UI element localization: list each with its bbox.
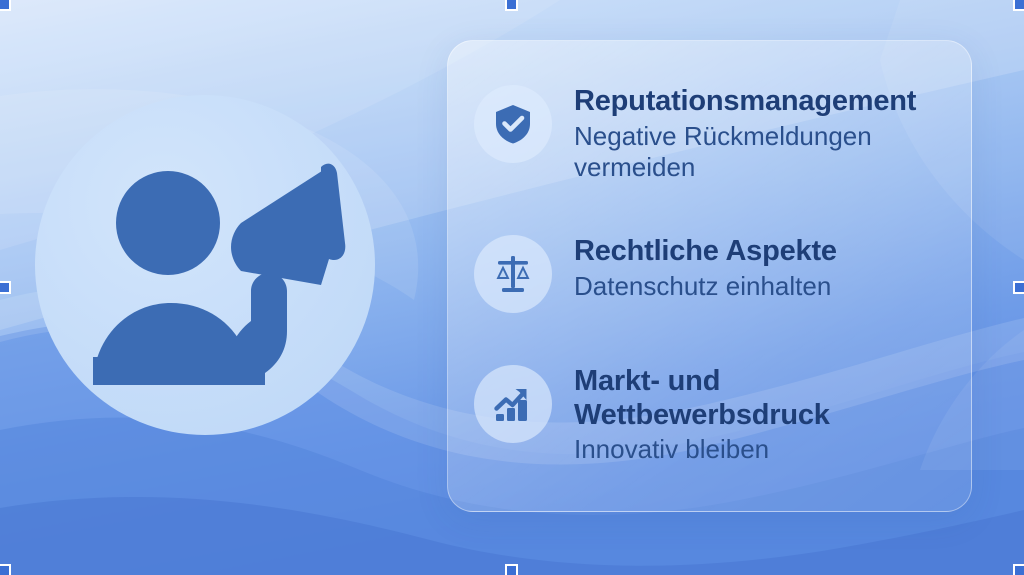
feature-item-markt-wettbewerbsdruck[interactable]: Markt- und Wettbewerbsdruck Innovativ bl… [474,363,941,465]
feature-title: Rechtliche Aspekte [574,235,837,269]
feature-title: Markt- und Wettbewerbsdruck [574,365,830,432]
selection-handle-bottom-left[interactable] [0,564,11,575]
feature-item-rechtliche-aspekte[interactable]: Rechtliche Aspekte Datenschutz einhalten [474,233,941,313]
feature-subtitle: Innovativ bleiben [574,434,830,465]
feature-subtitle: Negative Rückmeldungen vermeiden [574,121,916,183]
selection-handle-bottom-right[interactable] [1013,564,1024,575]
megaphone-illustration[interactable] [35,95,375,435]
selection-handle-middle-left[interactable] [0,281,11,294]
growth-chart-icon [474,365,552,443]
selection-handle-bottom-center[interactable] [505,564,518,575]
feature-text-block: Markt- und Wettbewerbsdruck Innovativ bl… [574,363,830,465]
feature-title: Reputationsmanagement [574,85,916,119]
person-with-megaphone-icon [35,95,375,435]
feature-text-block: Reputationsmanagement Negative Rückmeldu… [574,83,916,183]
balance-scale-icon [474,235,552,313]
feature-card[interactable]: Reputationsmanagement Negative Rückmeldu… [447,40,972,512]
shield-check-icon [474,85,552,163]
feature-subtitle: Datenschutz einhalten [574,271,837,302]
selection-handle-top-right[interactable] [1013,0,1024,11]
slide-canvas[interactable]: Reputationsmanagement Negative Rückmeldu… [0,0,1024,575]
feature-item-reputationsmanagement[interactable]: Reputationsmanagement Negative Rückmeldu… [474,83,941,183]
feature-text-block: Rechtliche Aspekte Datenschutz einhalten [574,233,837,302]
selection-handle-top-left[interactable] [0,0,11,11]
selection-handle-middle-right[interactable] [1013,281,1024,294]
selection-handle-top-center[interactable] [505,0,518,11]
